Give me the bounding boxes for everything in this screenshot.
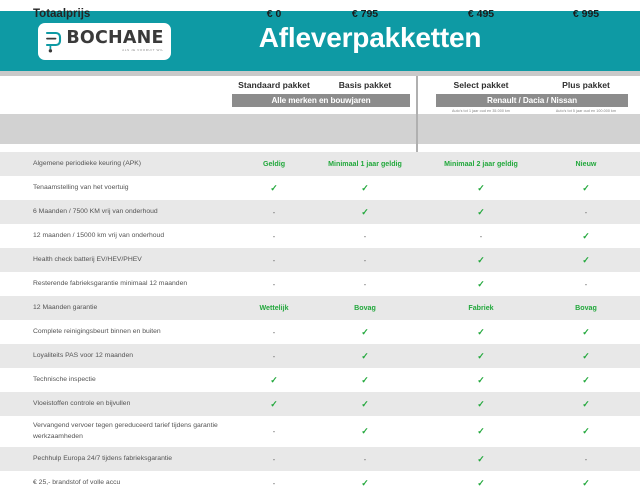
check-icon: ✓ bbox=[232, 392, 316, 416]
cell-text: Minimaal 2 jaar geldig bbox=[436, 152, 526, 176]
check-icon: ✓ bbox=[544, 320, 628, 344]
group-bar-alle-merken: Alle merken en bouwjaren bbox=[232, 94, 410, 107]
cell-text: Bovag bbox=[320, 296, 410, 320]
check-icon: ✓ bbox=[544, 224, 628, 248]
row-label: € 25,- brandstof of volle accu bbox=[33, 471, 231, 495]
feature-rows: Algemene periodieke keuring (APK)GeldigM… bbox=[0, 152, 640, 495]
check-icon: ✓ bbox=[436, 392, 526, 416]
dash-icon: - bbox=[232, 224, 316, 248]
dash-icon: - bbox=[232, 320, 316, 344]
check-icon: ✓ bbox=[436, 416, 526, 447]
table-row: Loyaliteits PAS voor 12 maanden-✓✓✓ bbox=[0, 344, 640, 368]
fineprint-plus: Auto's tot 5 jaar oud en 100.000 km bbox=[544, 109, 628, 113]
dash-icon: - bbox=[320, 272, 410, 296]
check-icon: ✓ bbox=[320, 176, 410, 200]
check-icon: ✓ bbox=[320, 320, 410, 344]
table-row: 12 maanden / 15000 km vrij van onderhoud… bbox=[0, 224, 640, 248]
table-row: Health check batterij EV/HEV/PHEV--✓✓ bbox=[0, 248, 640, 272]
row-label: Complete reinigingsbeurt binnen en buite… bbox=[33, 320, 231, 344]
package-header-block: Standaard pakket Basis pakket Select pak… bbox=[0, 76, 640, 114]
check-icon: ✓ bbox=[436, 368, 526, 392]
check-icon: ✓ bbox=[544, 344, 628, 368]
table-row: Pechhulp Europa 24/7 tijdens fabrieksgar… bbox=[0, 447, 640, 471]
table-row: Resterende fabrieksgarantie minimaal 12 … bbox=[0, 272, 640, 296]
check-icon: ✓ bbox=[436, 471, 526, 495]
check-icon: ✓ bbox=[436, 248, 526, 272]
dash-icon: - bbox=[544, 200, 628, 224]
check-icon: ✓ bbox=[320, 392, 410, 416]
total-price-label: Totaalprijs bbox=[33, 8, 90, 20]
dash-icon: - bbox=[232, 200, 316, 224]
check-icon: ✓ bbox=[544, 248, 628, 272]
package-name-standaard: Standaard pakket bbox=[232, 80, 316, 90]
row-label: Loyaliteits PAS voor 12 maanden bbox=[33, 344, 231, 368]
check-icon: ✓ bbox=[232, 368, 316, 392]
cell-text: Minimaal 1 jaar geldig bbox=[320, 152, 410, 176]
table-row: Tenaamstelling van het voertuig✓✓✓✓ bbox=[0, 176, 640, 200]
check-icon: ✓ bbox=[544, 176, 628, 200]
row-label: Vloeistoffen controle en bijvullen bbox=[33, 392, 231, 416]
table-row: 12 Maanden garantieWettelijkBovagFabriek… bbox=[0, 296, 640, 320]
row-label: 12 Maanden garantie bbox=[33, 296, 231, 320]
package-name-select: Select pakket bbox=[436, 80, 526, 90]
table-row: Vervangend vervoer tegen gereduceerd tar… bbox=[0, 416, 640, 447]
check-icon: ✓ bbox=[320, 368, 410, 392]
price-standaard: € 0 bbox=[232, 8, 316, 20]
check-icon: ✓ bbox=[544, 392, 628, 416]
group-bar-renault-dacia-nissan: Renault / Dacia / Nissan bbox=[436, 94, 628, 107]
row-label: Resterende fabrieksgarantie minimaal 12 … bbox=[33, 272, 231, 296]
dash-icon: - bbox=[320, 248, 410, 272]
package-name-plus: Plus pakket bbox=[544, 80, 628, 90]
check-icon: ✓ bbox=[436, 200, 526, 224]
table-row: Algemene periodieke keuring (APK)GeldigM… bbox=[0, 152, 640, 176]
check-icon: ✓ bbox=[436, 176, 526, 200]
check-icon: ✓ bbox=[544, 471, 628, 495]
package-name-basis: Basis pakket bbox=[320, 80, 410, 90]
afleverpakketten-page: BOCHANE ALS JE VOORUIT WIL Afleverpakket… bbox=[0, 0, 640, 480]
total-price-row bbox=[0, 114, 640, 144]
table-row: Complete reinigingsbeurt binnen en buite… bbox=[0, 320, 640, 344]
check-icon: ✓ bbox=[436, 344, 526, 368]
check-icon: ✓ bbox=[436, 447, 526, 471]
row-label: 12 maanden / 15000 km vrij van onderhoud bbox=[33, 224, 231, 248]
check-icon: ✓ bbox=[232, 176, 316, 200]
check-icon: ✓ bbox=[320, 200, 410, 224]
cell-text: Geldig bbox=[232, 152, 316, 176]
row-label: Health check batterij EV/HEV/PHEV bbox=[33, 248, 231, 272]
row-label: Vervangend vervoer tegen gereduceerd tar… bbox=[33, 416, 231, 447]
row-label: Pechhulp Europa 24/7 tijdens fabrieksgar… bbox=[33, 447, 231, 471]
check-icon: ✓ bbox=[544, 368, 628, 392]
cell-text: Wettelijk bbox=[232, 296, 316, 320]
dash-icon: - bbox=[320, 224, 410, 248]
dash-icon: - bbox=[232, 248, 316, 272]
dash-icon: - bbox=[544, 447, 628, 471]
check-icon: ✓ bbox=[544, 416, 628, 447]
price-plus: € 995 bbox=[544, 8, 628, 20]
cell-text: Bovag bbox=[544, 296, 628, 320]
dash-icon: - bbox=[232, 471, 316, 495]
page-title: Afleverpakketten bbox=[0, 22, 640, 54]
dash-icon: - bbox=[544, 272, 628, 296]
row-label: Technische inspectie bbox=[33, 368, 231, 392]
dash-icon: - bbox=[232, 447, 316, 471]
dash-icon: - bbox=[232, 272, 316, 296]
dash-icon: - bbox=[232, 416, 316, 447]
dash-icon: - bbox=[436, 224, 526, 248]
cell-text: Nieuw bbox=[544, 152, 628, 176]
table-row: € 25,- brandstof of volle accu-✓✓✓ bbox=[0, 471, 640, 495]
row-label: Tenaamstelling van het voertuig bbox=[33, 176, 231, 200]
check-icon: ✓ bbox=[436, 320, 526, 344]
row-label: Algemene periodieke keuring (APK) bbox=[33, 152, 231, 176]
table-row: Vloeistoffen controle en bijvullen✓✓✓✓ bbox=[0, 392, 640, 416]
check-icon: ✓ bbox=[320, 471, 410, 495]
price-select: € 495 bbox=[436, 8, 526, 20]
table-row: Technische inspectie✓✓✓✓ bbox=[0, 368, 640, 392]
fineprint-select: Auto's tot 1 jaar oud en 35.000 km bbox=[436, 109, 526, 113]
dash-icon: - bbox=[232, 344, 316, 368]
dash-icon: - bbox=[320, 447, 410, 471]
row-label: 6 Maanden / 7500 KM vrij van onderhoud bbox=[33, 200, 231, 224]
cell-text: Fabriek bbox=[436, 296, 526, 320]
check-icon: ✓ bbox=[320, 416, 410, 447]
price-basis: € 795 bbox=[320, 8, 410, 20]
table-row: 6 Maanden / 7500 KM vrij van onderhoud-✓… bbox=[0, 200, 640, 224]
check-icon: ✓ bbox=[320, 344, 410, 368]
check-icon: ✓ bbox=[436, 272, 526, 296]
